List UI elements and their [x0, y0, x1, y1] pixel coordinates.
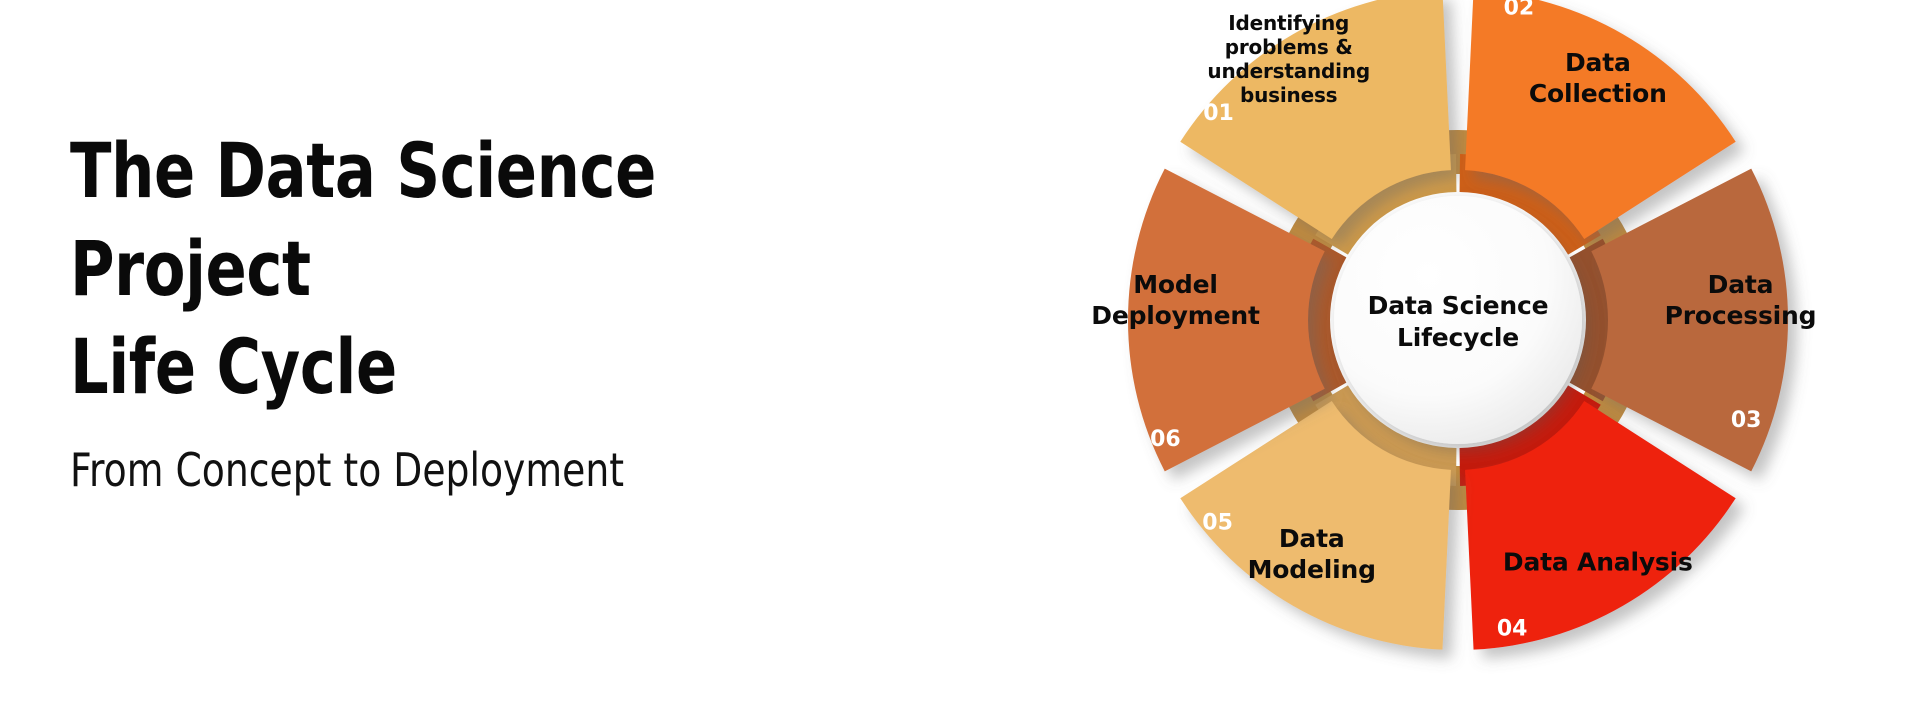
segment-number: 05 [1202, 511, 1233, 536]
segment-number: 02 [1504, 0, 1535, 21]
page-subtitle: From Concept to Deployment [70, 444, 792, 497]
segment-number: 03 [1731, 408, 1762, 433]
wheel-segment-03[interactable]: DataProcessing03 [1591, 169, 1816, 472]
segment-label-line: Deployment [1091, 301, 1260, 330]
segment-label-line: Data [1565, 48, 1631, 77]
page-title-line-1: The Data Science Project [70, 126, 656, 313]
segment-label-line: problems & [1225, 35, 1353, 59]
lifecycle-wheel: Identifyingproblems &understandingbusine… [1098, 0, 1818, 710]
hub-circle [1334, 196, 1582, 444]
wheel-segment-06[interactable]: ModelDeployment06 [1091, 169, 1324, 472]
segment-label-line: Data Analysis [1503, 548, 1693, 577]
segment-label-line: Data [1279, 524, 1345, 553]
segment-label-line: Data [1708, 270, 1774, 299]
title-block: The Data Science ProjectLife Cycle From … [70, 122, 950, 497]
wheel-hub [1334, 196, 1582, 444]
page-title-line-2: Life Cycle [70, 322, 397, 411]
segment-label-line: Model [1133, 270, 1217, 299]
segment-label-line: Modeling [1248, 555, 1376, 584]
segment-number: 06 [1150, 427, 1181, 452]
segment-number: 04 [1497, 616, 1528, 641]
page-title: The Data Science ProjectLife Cycle [70, 122, 774, 416]
segment-label-line: understanding [1207, 59, 1370, 83]
hub-label-line-2: Lifecycle [1397, 323, 1519, 352]
segment-label-line: business [1240, 83, 1337, 107]
hub-label-line-1: Data Science [1368, 291, 1549, 320]
segment-number: 01 [1203, 101, 1234, 126]
poster-canvas: The Data Science ProjectLife Cycle From … [0, 0, 1920, 700]
segment-label-line: Identifying [1228, 11, 1349, 35]
lifecycle-wheel-svg: Identifyingproblems &understandingbusine… [1098, 0, 1818, 710]
segment-label-line: Collection [1529, 79, 1667, 108]
segment-label-line: Processing [1665, 301, 1817, 330]
